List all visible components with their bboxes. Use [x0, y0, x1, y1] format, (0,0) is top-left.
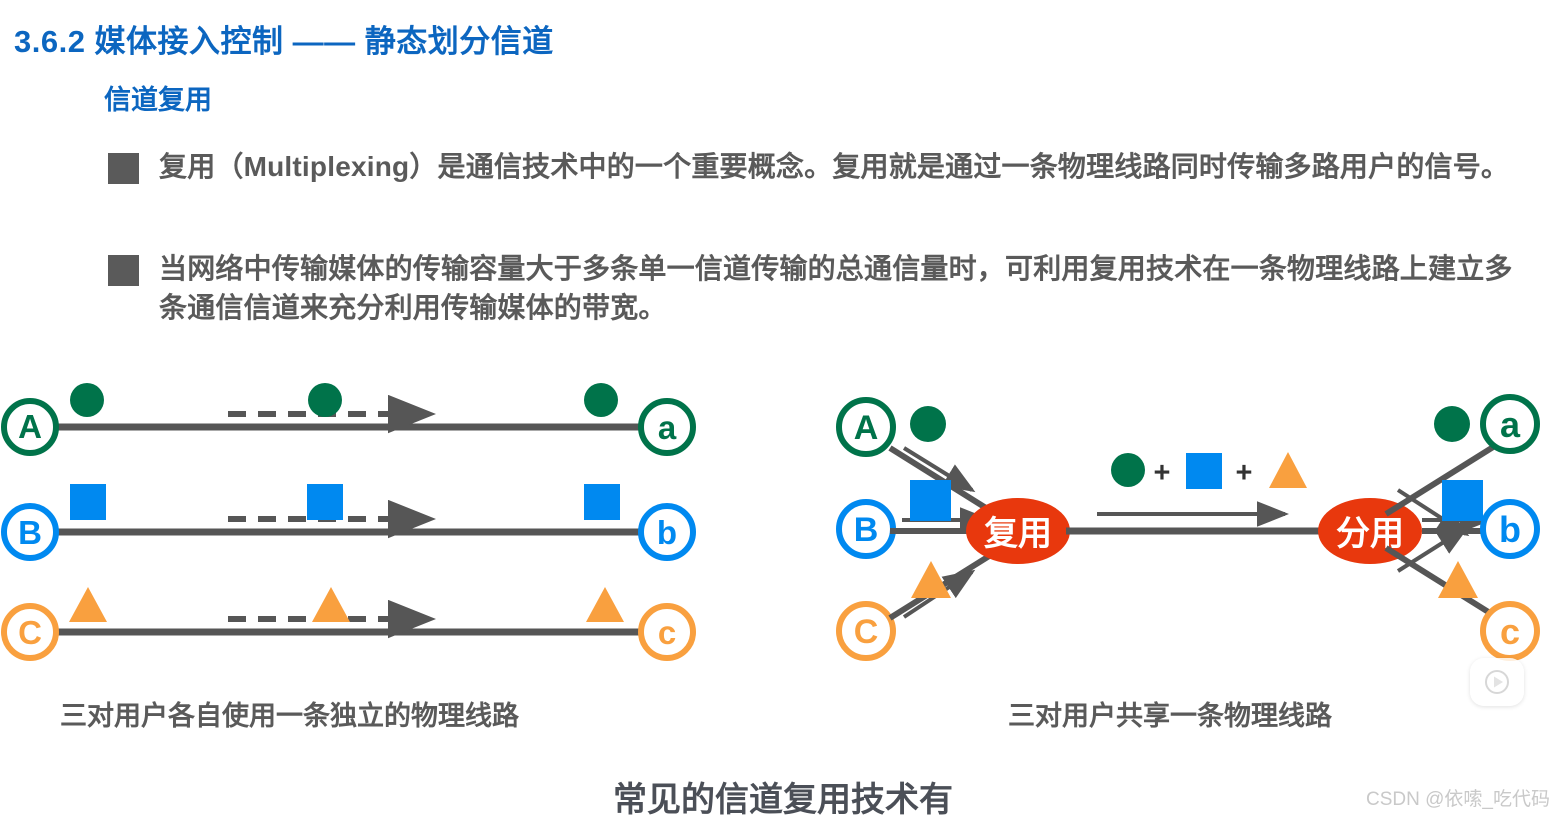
data-marker-square: [307, 484, 343, 520]
data-marker-triangle: [69, 587, 107, 622]
data-marker-triangle: [1438, 561, 1478, 598]
play-button-overlay[interactable]: [1470, 658, 1524, 706]
endpoint-label: C: [18, 614, 42, 651]
data-marker-triangle: [1269, 452, 1307, 488]
page-subtitle: 信道复用: [104, 78, 212, 117]
data-marker-circle: [910, 406, 946, 442]
bullet-square-icon: [108, 255, 139, 286]
trunk-formula: + +: [1111, 452, 1307, 489]
data-marker-circle: [584, 383, 618, 417]
endpoint-label: c: [658, 614, 676, 651]
endpoint-label: B: [854, 511, 879, 549]
data-marker-square: [910, 480, 951, 521]
bullet-item: 复用（Multiplexing）是通信技术中的一个重要概念。复用就是通过一条物理…: [108, 148, 1528, 187]
bullet-text: 复用（Multiplexing）是通信技术中的一个重要概念。复用就是通过一条物理…: [159, 148, 1509, 187]
bottom-heading: 常见的信道复用技术有: [0, 772, 1566, 821]
bullet-item: 当网络中传输媒体的传输容量大于多条单一信道传输的总通信量时，可利用复用技术在一条…: [108, 250, 1528, 327]
mux-input-line-c: [890, 548, 1002, 618]
data-marker-circle: [1434, 406, 1470, 442]
endpoint-label: C: [854, 613, 879, 651]
receiver-group: a b c: [1483, 397, 1537, 658]
data-marker-circle: [70, 383, 104, 417]
play-icon: [1484, 669, 1510, 695]
csdn-watermark: CSDN @依嗦_吃代码: [1366, 784, 1550, 811]
data-marker-triangle: [586, 587, 624, 622]
bullet-text: 当网络中传输媒体的传输容量大于多条单一信道传输的总通信量时，可利用复用技术在一条…: [159, 250, 1528, 327]
bullet-square-icon: [108, 153, 139, 184]
data-marker-square: [70, 484, 106, 520]
demux-label: 分用: [1336, 515, 1404, 553]
endpoint-label: B: [18, 514, 42, 551]
mux-label: 复用: [984, 515, 1052, 553]
endpoint-label: A: [854, 409, 879, 447]
caption-left: 三对用户各自使用一条独立的物理线路: [60, 694, 519, 733]
endpoint-label: c: [1500, 611, 1520, 652]
channel-row-c: C c: [4, 587, 693, 658]
data-marker-circle: [1111, 453, 1145, 487]
plus-sign: +: [1236, 457, 1253, 489]
data-marker-square: [1442, 480, 1483, 521]
channel-row-b: B b: [4, 484, 693, 558]
data-marker-circle: [308, 383, 342, 417]
data-marker-triangle: [911, 561, 951, 598]
diagram-independent-lines: A a B b C c: [0, 368, 740, 678]
plus-sign: +: [1154, 457, 1171, 489]
data-marker-square: [584, 484, 620, 520]
endpoint-label: A: [18, 408, 42, 445]
diagram-shared-line: A B C 复用 + + 分用 a: [810, 368, 1550, 678]
demux-output-line-c: [1386, 548, 1498, 618]
data-marker-square: [1186, 453, 1222, 489]
endpoint-label: a: [1500, 404, 1521, 445]
endpoint-label: b: [1499, 509, 1521, 550]
endpoint-label: a: [658, 409, 677, 446]
channel-row-a: A a: [4, 383, 693, 453]
caption-right: 三对用户共享一条物理线路: [1008, 694, 1332, 733]
data-marker-triangle: [312, 587, 350, 622]
page-title: 3.6.2 媒体接入控制 —— 静态划分信道: [14, 16, 554, 61]
sender-group: A B C: [839, 400, 893, 658]
endpoint-label: b: [657, 514, 677, 551]
